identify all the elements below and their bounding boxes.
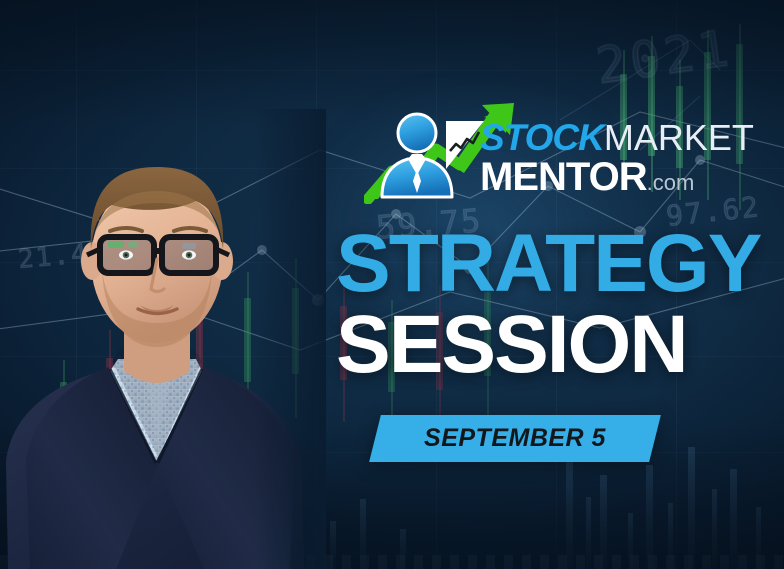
promo-banner: 2021 21.4 59.75 97.62 — [0, 0, 784, 569]
logo-word-stock: STOCK — [480, 117, 604, 158]
headline-session: SESSION — [336, 307, 784, 382]
logo-word-market: MARKET — [604, 117, 754, 158]
date-banner-label: SEPTEMBER 5 — [375, 415, 655, 462]
headline-strategy: STRATEGY — [336, 226, 784, 301]
logo-word-com: .com — [647, 170, 695, 195]
date-banner[interactable]: SEPTEMBER 5 — [369, 415, 661, 462]
headline-block: STRATEGY SESSION — [336, 226, 784, 383]
logo-wordmark: STOCKMARKET MENTOR.com — [480, 121, 754, 196]
host-portrait — [0, 109, 320, 569]
brand-logo[interactable]: STOCKMARKET MENTOR.com — [364, 99, 732, 204]
logo-word-mentor: MENTOR — [480, 155, 647, 199]
